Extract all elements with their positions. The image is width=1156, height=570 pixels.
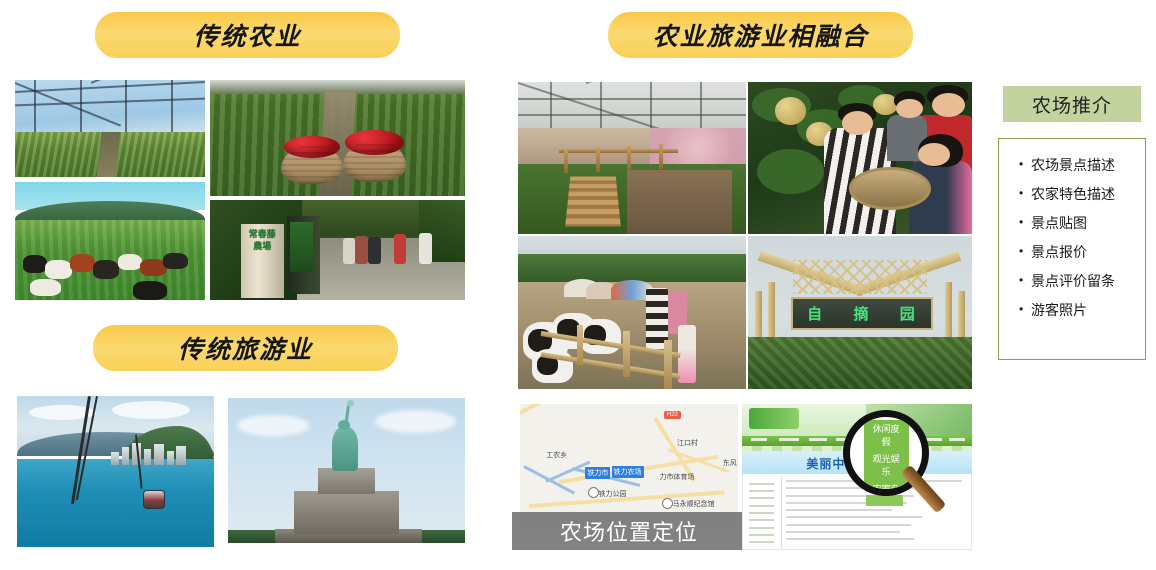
strawberry-basket-right [343, 140, 407, 182]
liberty-statue-body [332, 427, 358, 471]
sign-char-3: 园 [900, 303, 917, 324]
pear-fruit [775, 97, 806, 124]
map-label-jiangkoucun: 江口村 [677, 438, 698, 448]
map-label-stadium: 力市体育场 [660, 472, 695, 482]
photo-garden-walkway [518, 82, 746, 234]
garden-railing-post [627, 146, 631, 170]
cloud [375, 410, 456, 433]
woven-basket [849, 167, 931, 209]
farm-gate-sign-text: 常春藤農場 [244, 228, 280, 252]
photo-cow-feeding [518, 236, 746, 389]
map-route-badge: H22 [664, 411, 681, 419]
visitor [419, 233, 432, 264]
photo-cattle-pasture [15, 182, 205, 300]
sidebar-header: 农场推介 [1003, 86, 1141, 122]
cow [70, 254, 95, 272]
website-dropdown-panel[interactable] [866, 495, 903, 507]
map-label-memorial: 马永顺纪念馆 [673, 499, 715, 509]
map-label-gongnongxiang: 工农乡 [546, 450, 567, 460]
sidebar-header-text: 农场推介 [1032, 91, 1112, 118]
visitor [394, 234, 407, 264]
orchard-hedge [748, 337, 972, 389]
liberty-torch [347, 400, 354, 407]
liberty-pedestal [318, 468, 375, 494]
section-title-traditional-tourism: 传统旅游业 [93, 325, 398, 371]
photo-greenhouse [15, 80, 205, 177]
section-title-traditional-agriculture: 传统农业 [95, 12, 400, 58]
cow [580, 319, 621, 354]
map-caption-text: 农场位置定位 [560, 515, 698, 547]
section-title-agritourism-fusion: 农业旅游业相融合 [608, 12, 913, 58]
cloud [112, 401, 191, 419]
photo-cable-car-bay [17, 396, 214, 547]
garden-railing-post [564, 149, 568, 173]
garden-wooden-stairs [565, 177, 621, 227]
strawberry-basket-left [281, 145, 342, 184]
fence-post [577, 325, 583, 365]
sign-char-2: 摘 [853, 303, 870, 324]
cow [118, 254, 143, 271]
photo-statue-of-liberty [228, 398, 465, 543]
map-label-park: 铁力公园 [598, 489, 626, 499]
photo-farm-location-map: H22 工农乡 江口村 力市体育场 铁力公园 马永顺纪念馆 东风 铁力市 铁力农… [520, 404, 738, 526]
cow [133, 281, 167, 300]
cow [93, 260, 120, 279]
photo-farm-gate: 常春藤農場 [210, 200, 465, 300]
sidebar-item-scenic-reviews[interactable]: 景点评价留条 [1019, 273, 1141, 289]
cow [30, 279, 60, 297]
garden-railing-post [596, 147, 600, 171]
sidebar-feature-list: 农场景点描述 农家特色描述 景点贴图 景点报价 景点评价留条 游客照片 [1003, 157, 1141, 318]
sidebar-feature-box: 农场景点描述 农家特色描述 景点贴图 景点报价 景点评价留条 游客照片 [998, 138, 1146, 360]
sidebar-item-farmhouse-description[interactable]: 农家特色描述 [1019, 186, 1141, 202]
visitor [355, 236, 368, 264]
orchard-gate-signboard: 自 摘 园 [791, 297, 934, 330]
garden-wet-path [627, 170, 732, 234]
map-poi-marker[interactable] [588, 487, 599, 498]
visitor [343, 238, 356, 264]
photo-rural-tourism-website: 美丽中国乡村行 休闲度假 观光娱乐 农家杂谈 生态采摘 [742, 404, 972, 550]
map-label-dongfeng: 东风 [723, 458, 737, 468]
menu-item-leisure[interactable]: 休闲度假 [864, 420, 909, 450]
cow [45, 260, 72, 279]
visitor [368, 237, 381, 264]
cow [23, 255, 48, 273]
map-highlight-tielishi[interactable]: 铁力市 [585, 467, 610, 479]
map-poi-marker[interactable] [662, 498, 673, 509]
photo-strawberry-baskets [210, 80, 465, 196]
sidebar-item-visitor-photos[interactable]: 游客照片 [1019, 302, 1141, 318]
sign-char-1: 自 [807, 303, 824, 324]
cow [163, 253, 188, 270]
garden-glass-roof [518, 82, 746, 134]
sidebar-item-scenic-pricing[interactable]: 景点报价 [1019, 244, 1141, 260]
photo-self-pick-orchard-gate: 自 摘 园 [748, 236, 972, 389]
website-logo [749, 408, 800, 428]
cable-car-cabin [143, 490, 165, 509]
website-sidebar[interactable] [744, 476, 782, 549]
face [932, 93, 966, 117]
sidebar-item-scenic-photos[interactable]: 景点贴图 [1019, 215, 1141, 231]
garden-railing-post [659, 144, 663, 168]
fence-post [664, 340, 672, 389]
sidebar-item-scenic-description[interactable]: 农场景点描述 [1019, 157, 1141, 173]
bay-skyline [108, 441, 199, 465]
bay-water [17, 459, 214, 547]
map-highlight-tielinongchang[interactable]: 铁力农场 [612, 466, 644, 478]
face [918, 143, 949, 166]
cloud [237, 415, 308, 435]
liberty-fort-base [294, 491, 398, 535]
photo-fruit-picking [748, 82, 972, 234]
face [896, 99, 923, 119]
bamboo-lattice [793, 260, 927, 294]
farm-gate-green-panel [290, 222, 313, 272]
map-caption-banner: 农场位置定位 [512, 512, 746, 550]
fence-post [623, 331, 630, 377]
